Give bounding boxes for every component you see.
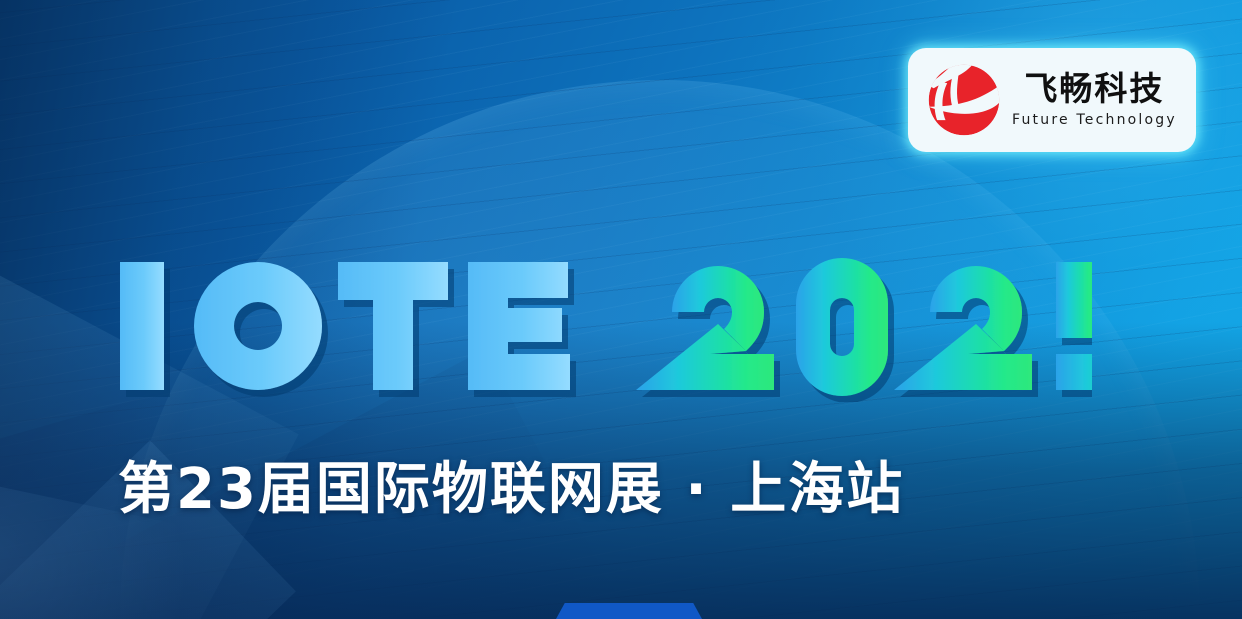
red-globe-swoosh-icon — [922, 58, 1006, 142]
banner-subtitle: 第23届国际物联网展 · 上海站 — [118, 456, 1128, 523]
company-logo-text: 飞畅科技 Future Technology — [1012, 72, 1177, 128]
wordmark-svg — [112, 250, 1092, 402]
wordmark-letters — [120, 262, 570, 390]
company-name-cn: 飞畅科技 — [1024, 72, 1164, 107]
bottom-accent-trapezoid — [556, 603, 702, 619]
iote-2025-banner: 飞畅科技 Future Technology — [0, 0, 1242, 619]
company-logo-badge[interactable]: 飞畅科技 Future Technology — [908, 48, 1196, 152]
wordmark-year — [636, 258, 1092, 402]
company-name-en: Future Technology — [1012, 112, 1177, 128]
iote-2025-wordmark — [112, 250, 1092, 402]
